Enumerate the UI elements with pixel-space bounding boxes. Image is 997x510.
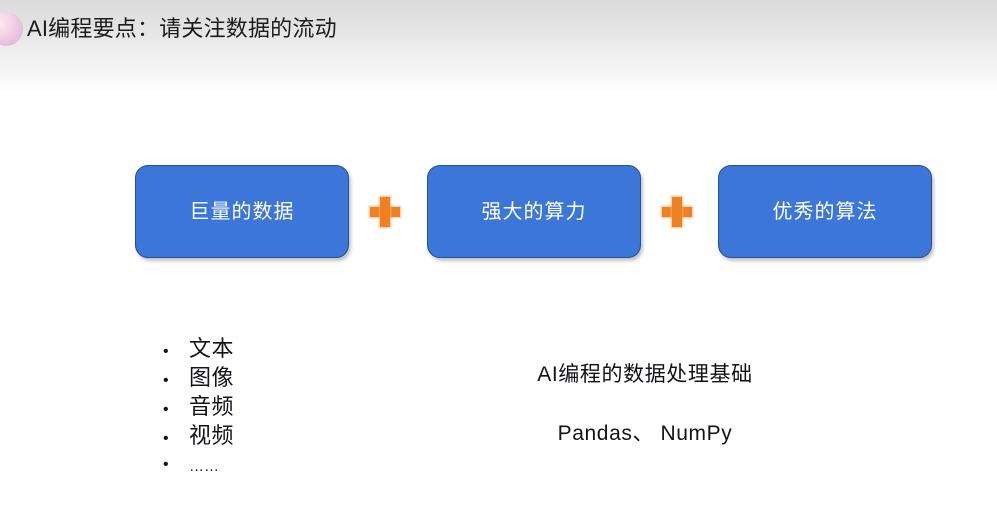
bullet-dot-icon: •	[163, 366, 189, 395]
plus-icon	[662, 197, 692, 227]
list-item-label: ……	[189, 452, 219, 481]
list-item: • 文本	[163, 334, 234, 363]
list-item: • ……	[163, 450, 234, 479]
list-item-label: 视频	[189, 421, 234, 450]
pillar-label: 巨量的数据	[190, 202, 295, 222]
list-item: • 图像	[163, 363, 234, 392]
plus-icon-vertical-bar	[672, 197, 682, 227]
pillar-box-data[interactable]: 巨量的数据	[135, 165, 349, 258]
bullet-dot-icon: •	[163, 395, 189, 424]
bullet-dot-icon: •	[163, 450, 189, 479]
pillar-label: 优秀的算法	[773, 202, 878, 222]
list-item-label: 音频	[189, 392, 234, 421]
slide-header-bar: AI编程要点：请关注数据的流动	[0, 0, 997, 96]
bullet-dot-icon: •	[163, 424, 189, 453]
bullet-dot-icon: •	[163, 337, 189, 366]
pillar-row: 巨量的数据 强大的算力 优秀的算法	[135, 165, 933, 260]
caption-secondary-text: Pandas、 NumPy	[470, 419, 820, 449]
decorative-circle-icon	[0, 12, 23, 46]
pillar-box-compute[interactable]: 强大的算力	[427, 165, 641, 258]
pillar-label: 强大的算力	[482, 202, 587, 222]
list-item-label: 图像	[189, 363, 234, 392]
pillar-box-algorithm[interactable]: 优秀的算法	[718, 165, 932, 258]
list-item: • 音频	[163, 392, 234, 421]
caption-primary-text: AI编程的数据处理基础	[470, 360, 820, 390]
caption-block: AI编程的数据处理基础 Pandas、 NumPy	[470, 360, 820, 449]
plus-icon-vertical-bar	[380, 197, 390, 227]
plus-icon	[370, 197, 400, 227]
list-item: • 视频	[163, 421, 234, 450]
slide-canvas: AI编程要点：请关注数据的流动 巨量的数据 强大的算力 优秀的算法 • 文本 •	[0, 0, 997, 510]
data-type-bullet-list: • 文本 • 图像 • 音频 • 视频 • ……	[163, 334, 234, 479]
page-title: AI编程要点：请关注数据的流动	[27, 13, 337, 44]
list-item-label: 文本	[189, 334, 234, 363]
